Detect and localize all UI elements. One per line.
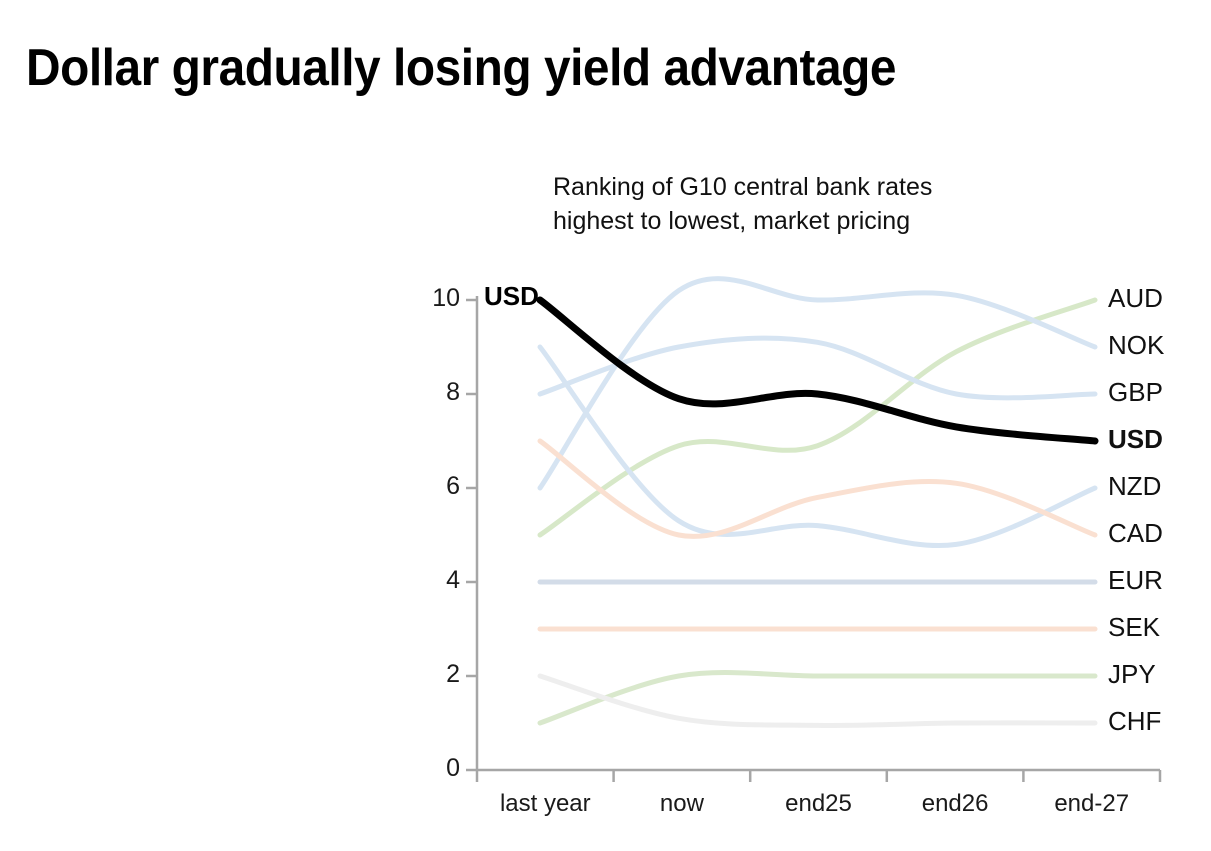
series-line-chf: [540, 676, 1095, 725]
series-end-label-nok: NOK: [1108, 330, 1164, 361]
series-end-label-jpy: JPY: [1108, 659, 1156, 690]
series-line-cad: [540, 441, 1095, 536]
series-end-label-chf: CHF: [1108, 706, 1161, 737]
series-end-label-usd: USD: [1108, 424, 1163, 455]
series-end-label-nzd: NZD: [1108, 471, 1161, 502]
y-axis-tick-label: 2: [414, 660, 460, 689]
y-axis-tick-label: 4: [414, 566, 460, 595]
series-line-jpy: [540, 673, 1095, 723]
y-axis-tick-label: 10: [414, 284, 460, 313]
series-end-label-aud: AUD: [1108, 283, 1163, 314]
y-axis-tick-label: 0: [414, 754, 460, 783]
x-axis-tick-label: end-27: [992, 790, 1192, 818]
series-line-usd: [540, 300, 1095, 441]
series-end-label-eur: EUR: [1108, 565, 1163, 596]
series-end-label-sek: SEK: [1108, 612, 1160, 643]
series-end-label-cad: CAD: [1108, 518, 1163, 549]
line-chart: [0, 0, 1211, 851]
chart-series-lines: [540, 279, 1095, 726]
series-line-nok: [540, 279, 1095, 488]
series-end-label-gbp: GBP: [1108, 377, 1163, 408]
y-axis-tick-label: 6: [414, 472, 460, 501]
y-axis-tick-label: 8: [414, 378, 460, 407]
